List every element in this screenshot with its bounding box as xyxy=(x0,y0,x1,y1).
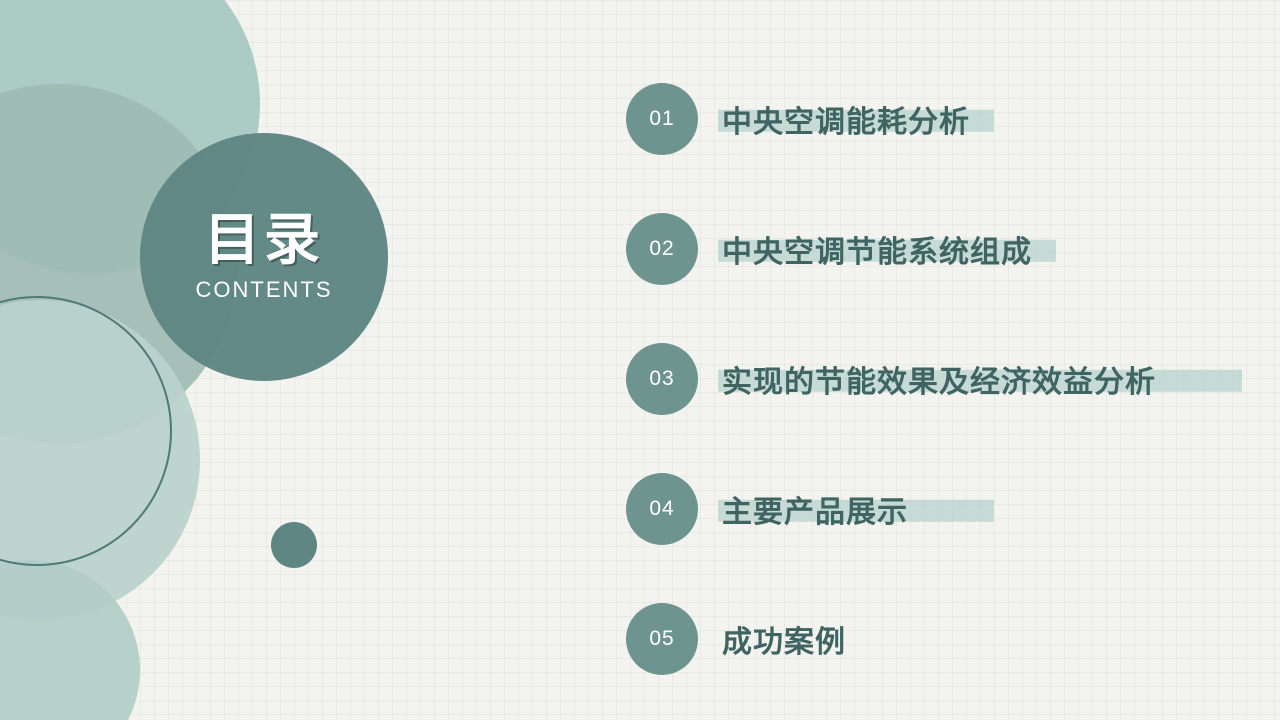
item-number-badge: 01 xyxy=(626,83,698,155)
contents-slide: 目录 CONTENTS 01 中央空调能耗分析 02 中央空调节能系统组成 03… xyxy=(0,0,1280,720)
list-item[interactable]: 02 中央空调节能系统组成 xyxy=(626,212,1256,286)
item-number-badge: 04 xyxy=(626,473,698,545)
contents-list: 01 中央空调能耗分析 02 中央空调节能系统组成 03 实现的节能效果及经济效… xyxy=(626,82,1256,676)
item-text-wrap: 实现的节能效果及经济效益分析 xyxy=(722,357,1156,401)
item-text-wrap: 中央空调节能系统组成 xyxy=(722,227,1032,271)
item-label: 实现的节能效果及经济效益分析 xyxy=(722,366,1156,399)
item-text-wrap: 中央空调能耗分析 xyxy=(722,97,970,141)
item-label: 主要产品展示 xyxy=(722,496,908,529)
item-text-wrap: 主要产品展示 xyxy=(722,487,908,531)
list-item[interactable]: 04 主要产品展示 xyxy=(626,472,1256,546)
item-label: 中央空调节能系统组成 xyxy=(722,236,1032,269)
item-label: 成功案例 xyxy=(722,626,846,659)
page-title-cn: 目录 xyxy=(204,211,324,270)
item-number-badge: 03 xyxy=(626,343,698,415)
list-item[interactable]: 05 成功案例 xyxy=(626,602,1256,676)
list-item[interactable]: 01 中央空调能耗分析 xyxy=(626,82,1256,156)
page-title-en: CONTENTS xyxy=(196,277,333,303)
list-item[interactable]: 03 实现的节能效果及经济效益分析 xyxy=(626,342,1256,416)
slide-title-group: 目录 CONTENTS xyxy=(140,133,388,381)
item-label: 中央空调能耗分析 xyxy=(722,106,970,139)
item-number-badge: 05 xyxy=(626,603,698,675)
small-dot-circle xyxy=(271,522,317,568)
item-text-wrap: 成功案例 xyxy=(722,617,846,661)
item-number-badge: 02 xyxy=(626,213,698,285)
